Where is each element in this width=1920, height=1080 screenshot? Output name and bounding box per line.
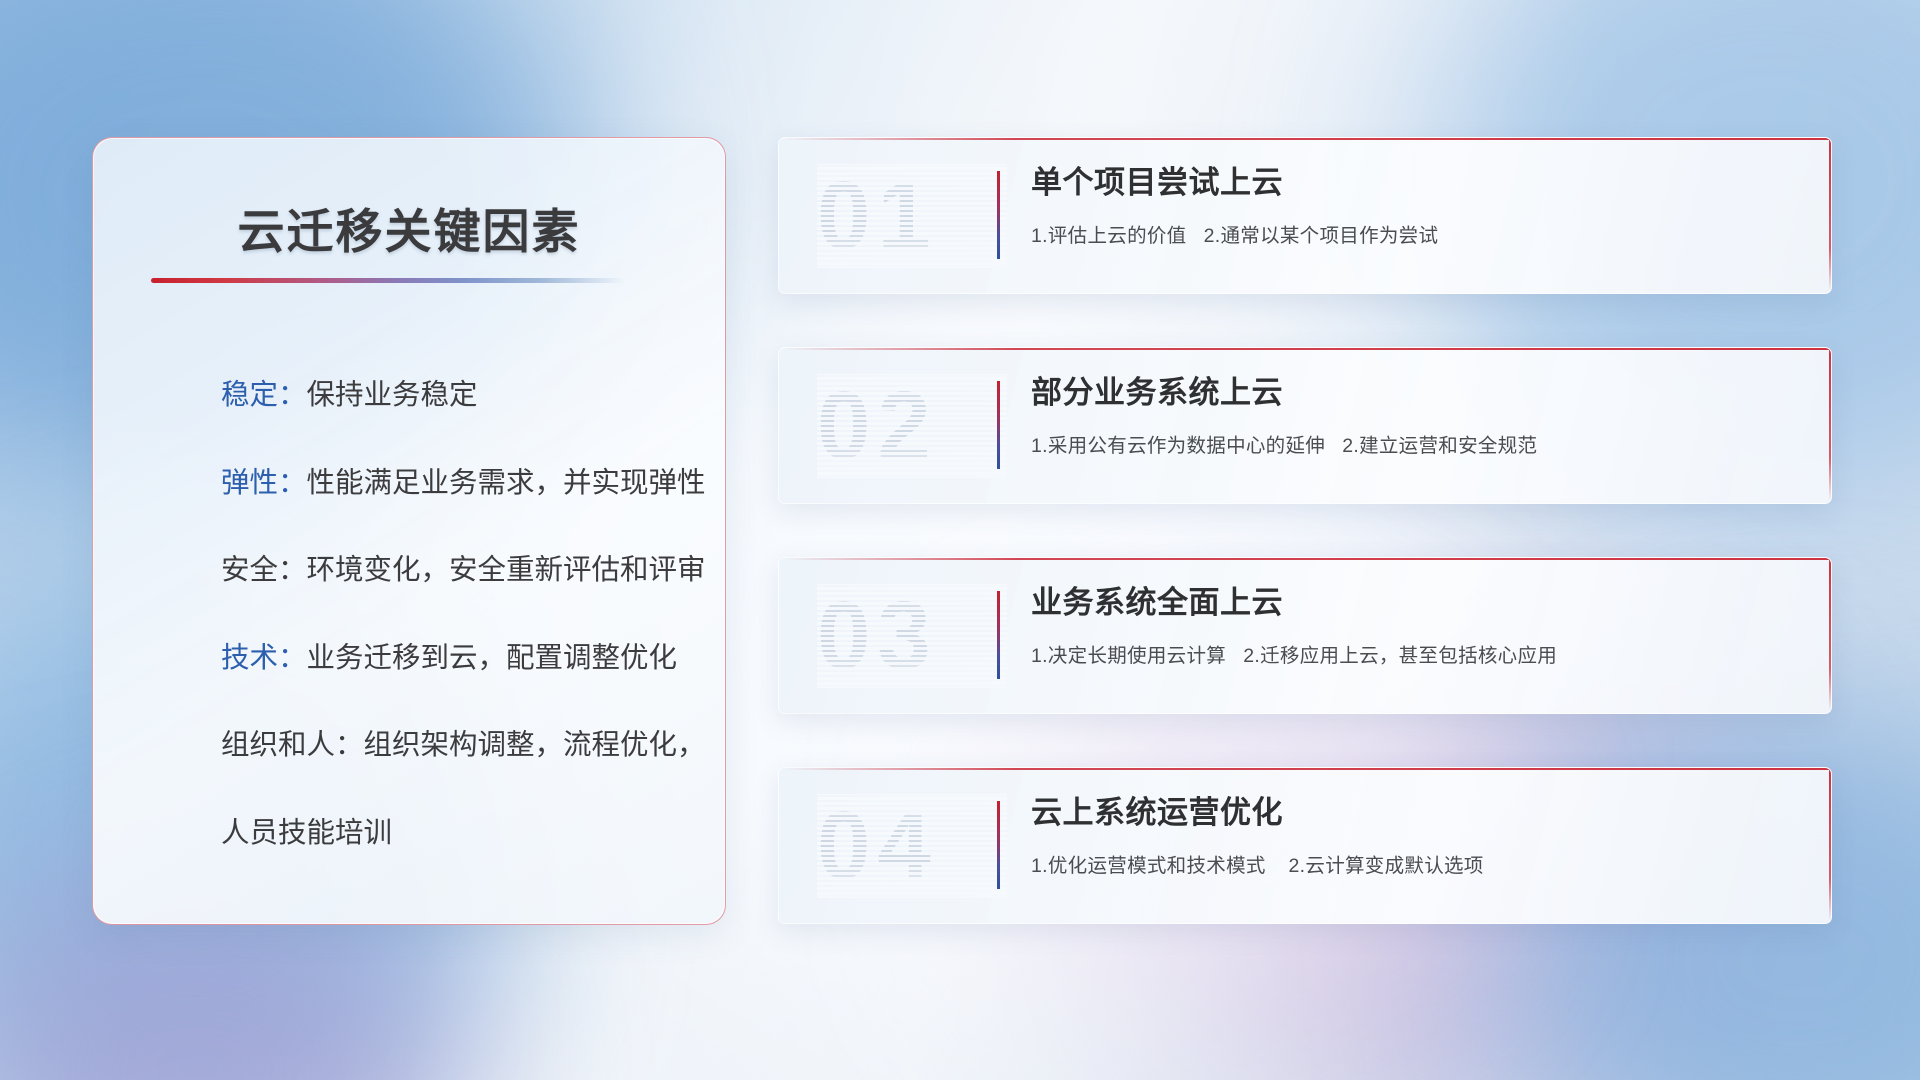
stage-title: 业务系统全面上云 bbox=[1031, 584, 1801, 621]
list-item: 安全：环境变化，安全重新评估和评审 bbox=[221, 556, 697, 585]
list-item: 稳定：保持业务稳定 bbox=[221, 381, 697, 410]
factor-label: 安全： bbox=[221, 554, 307, 586]
stage-card-04[interactable]: 04 云上系统运营优化 1.优化运营模式和技术模式 2.云计算变成默认选项 bbox=[778, 767, 1832, 924]
slide-canvas: 云迁移关键因素 稳定：保持业务稳定 弹性：性能满足业务需求，并实现弹性 安全：环… bbox=[0, 0, 1920, 1080]
list-item: 组织和人：组织架构调整，流程优化， bbox=[221, 731, 697, 760]
stage-card-01[interactable]: 01 单个项目尝试上云 1.评估上云的价值 2.通常以某个项目作为尝试 bbox=[778, 137, 1832, 294]
key-factors-panel: 云迁移关键因素 稳定：保持业务稳定 弹性：性能满足业务需求，并实现弹性 安全：环… bbox=[92, 137, 726, 925]
stage-content: 云上系统运营优化 1.优化运营模式和技术模式 2.云计算变成默认选项 bbox=[1031, 794, 1801, 878]
page-title: 云迁移关键因素 bbox=[93, 193, 725, 262]
list-item: 技术：业务迁移到云，配置调整优化 bbox=[221, 644, 697, 673]
factor-value: 组织架构调整，流程优化， bbox=[364, 729, 706, 761]
stage-title: 部分业务系统上云 bbox=[1031, 374, 1801, 411]
factor-value: 性能满足业务需求，并实现弹性 bbox=[307, 467, 706, 499]
stage-card-03[interactable]: 03 业务系统全面上云 1.决定长期使用云计算 2.迁移应用上云，甚至包括核心应… bbox=[778, 557, 1832, 714]
stage-content: 单个项目尝试上云 1.评估上云的价值 2.通常以某个项目作为尝试 bbox=[1031, 164, 1801, 248]
list-item: 弹性：性能满足业务需求，并实现弹性 bbox=[221, 469, 697, 498]
title-underline-rule bbox=[151, 278, 625, 283]
factor-value: 环境变化，安全重新评估和评审 bbox=[307, 554, 706, 586]
factor-value: 业务迁移到云，配置调整优化 bbox=[307, 642, 678, 674]
list-item: 人员技能培训 bbox=[221, 819, 697, 848]
stage-content: 业务系统全面上云 1.决定长期使用云计算 2.迁移应用上云，甚至包括核心应用 bbox=[1031, 584, 1801, 668]
stage-title: 单个项目尝试上云 bbox=[1031, 164, 1801, 201]
stage-description: 1.采用公有云作为数据中心的延伸 2.建立运营和安全规范 bbox=[1031, 429, 1801, 458]
factor-value: 人员技能培训 bbox=[221, 817, 392, 849]
stage-number: 01 bbox=[817, 164, 1007, 268]
stage-accent-bar bbox=[997, 381, 1000, 469]
stage-number: 02 bbox=[817, 374, 1007, 478]
key-factors-list: 稳定：保持业务稳定 弹性：性能满足业务需求，并实现弹性 安全：环境变化，安全重新… bbox=[221, 381, 697, 847]
factor-label: 技术： bbox=[221, 642, 307, 674]
factor-label: 弹性： bbox=[221, 467, 307, 499]
migration-stages-list: 01 单个项目尝试上云 1.评估上云的价值 2.通常以某个项目作为尝试 02 部… bbox=[778, 137, 1832, 924]
stage-description: 1.评估上云的价值 2.通常以某个项目作为尝试 bbox=[1031, 219, 1801, 248]
stage-title: 云上系统运营优化 bbox=[1031, 794, 1801, 831]
factor-label: 稳定： bbox=[221, 379, 307, 411]
factor-label: 组织和人： bbox=[221, 729, 364, 761]
stage-description: 1.决定长期使用云计算 2.迁移应用上云，甚至包括核心应用 bbox=[1031, 639, 1801, 668]
stage-accent-bar bbox=[997, 591, 1000, 679]
stage-card-02[interactable]: 02 部分业务系统上云 1.采用公有云作为数据中心的延伸 2.建立运营和安全规范 bbox=[778, 347, 1832, 504]
stage-accent-bar bbox=[997, 801, 1000, 889]
stage-number: 04 bbox=[817, 794, 1007, 898]
stage-description: 1.优化运营模式和技术模式 2.云计算变成默认选项 bbox=[1031, 849, 1801, 878]
stage-accent-bar bbox=[997, 171, 1000, 259]
factor-value: 保持业务稳定 bbox=[307, 379, 478, 411]
stage-number: 03 bbox=[817, 584, 1007, 688]
stage-content: 部分业务系统上云 1.采用公有云作为数据中心的延伸 2.建立运营和安全规范 bbox=[1031, 374, 1801, 458]
